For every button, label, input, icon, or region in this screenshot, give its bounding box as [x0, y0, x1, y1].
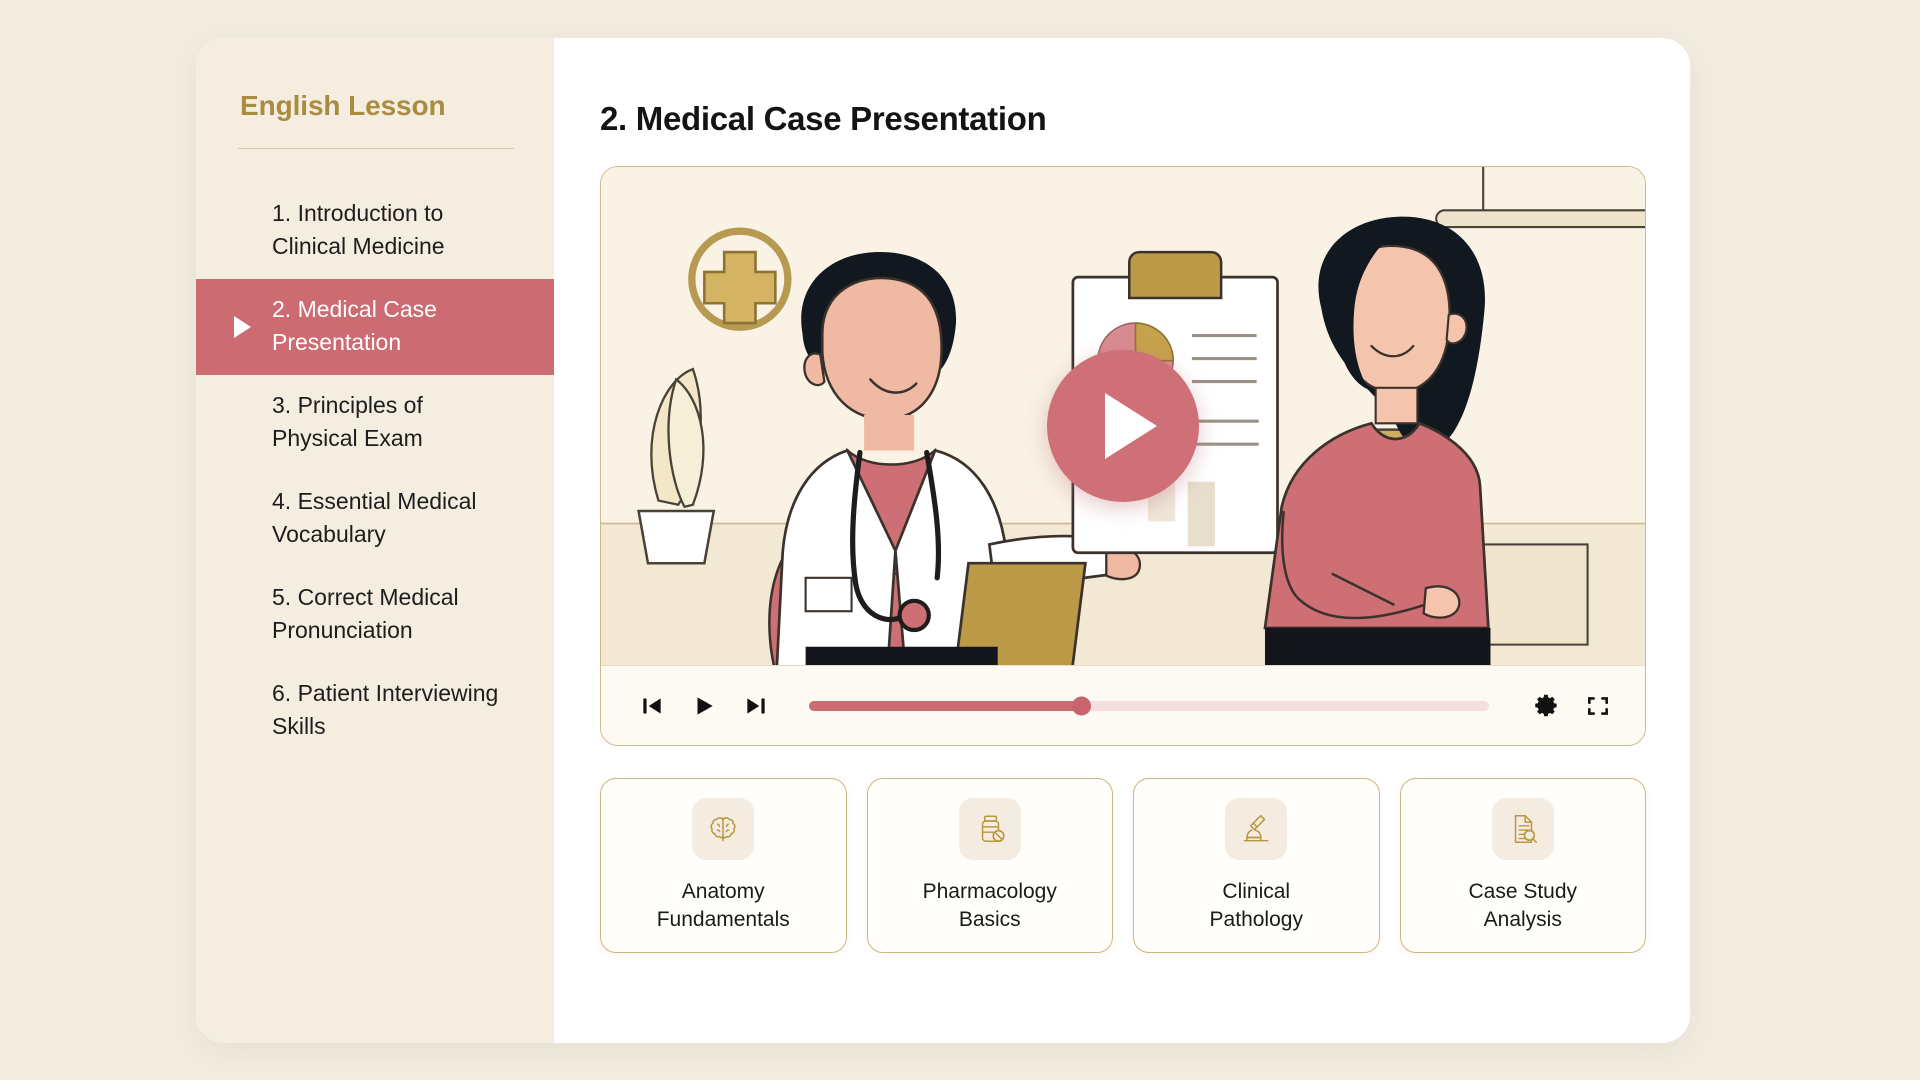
video-progress-slider[interactable]: [809, 701, 1489, 711]
lesson-item-label: 3. Principles of Physical Exam: [242, 389, 423, 455]
fullscreen-icon[interactable]: [1581, 689, 1615, 723]
sidebar-divider: [238, 148, 514, 149]
topic-card-label: Pharmacology Basics: [923, 878, 1057, 934]
sidebar-title: English Lesson: [196, 90, 554, 122]
topic-card-label: Anatomy Fundamentals: [657, 878, 790, 934]
topic-card-anatomy[interactable]: Anatomy Fundamentals: [600, 778, 847, 953]
play-circle-icon[interactable]: [1047, 350, 1199, 502]
sidebar-item-lesson-2[interactable]: 2. Medical Case Presentation: [196, 279, 554, 375]
play-icon[interactable]: [687, 689, 721, 723]
video-controls-bar: [601, 665, 1645, 745]
sidebar: English Lesson 1. Introduction to Clinic…: [196, 38, 554, 1043]
lesson-item-label: 4. Essential Medical Vocabulary: [242, 485, 477, 551]
screen-root: English Lesson 1. Introduction to Clinic…: [0, 0, 1920, 1080]
sidebar-item-lesson-5[interactable]: 5. Correct Medical Pronunciation: [196, 567, 554, 663]
play-triangle-icon: [234, 316, 251, 338]
lesson-list: 1. Introduction to Clinical Medicine 2. …: [196, 183, 554, 759]
skip-next-icon[interactable]: [739, 689, 773, 723]
document-search-icon: [1492, 798, 1554, 860]
lesson-item-label: 1. Introduction to Clinical Medicine: [242, 197, 445, 263]
page-title: 2. Medical Case Presentation: [600, 100, 1646, 138]
gear-icon[interactable]: [1529, 689, 1563, 723]
video-progress-fill: [809, 701, 1081, 711]
sidebar-item-lesson-1[interactable]: 1. Introduction to Clinical Medicine: [196, 183, 554, 279]
brain-icon: [692, 798, 754, 860]
sidebar-item-lesson-3[interactable]: 3. Principles of Physical Exam: [196, 375, 554, 471]
video-player-card: [600, 166, 1646, 746]
lesson-item-label: 5. Correct Medical Pronunciation: [242, 581, 459, 647]
pill-bottle-icon: [959, 798, 1021, 860]
topic-card-label: Case Study Analysis: [1468, 878, 1577, 934]
video-stage[interactable]: [601, 167, 1645, 665]
content-area: 2. Medical Case Presentation: [554, 38, 1690, 1043]
sidebar-item-lesson-4[interactable]: 4. Essential Medical Vocabulary: [196, 471, 554, 567]
video-progress-thumb[interactable]: [1072, 696, 1091, 715]
topic-cards-row: Anatomy Fundamentals Pharmacology: [600, 778, 1646, 953]
lesson-item-label: 6. Patient Interviewing Skills: [242, 677, 498, 743]
topic-card-label: Clinical Pathology: [1210, 878, 1303, 934]
topic-card-pharmacology[interactable]: Pharmacology Basics: [867, 778, 1114, 953]
topic-card-case-study[interactable]: Case Study Analysis: [1400, 778, 1647, 953]
topic-card-pathology[interactable]: Clinical Pathology: [1133, 778, 1380, 953]
microscope-icon: [1225, 798, 1287, 860]
app-panel: English Lesson 1. Introduction to Clinic…: [196, 38, 1690, 1043]
sidebar-item-lesson-6[interactable]: 6. Patient Interviewing Skills: [196, 663, 554, 759]
lesson-item-label: 2. Medical Case Presentation: [242, 293, 437, 359]
skip-previous-icon[interactable]: [635, 689, 669, 723]
